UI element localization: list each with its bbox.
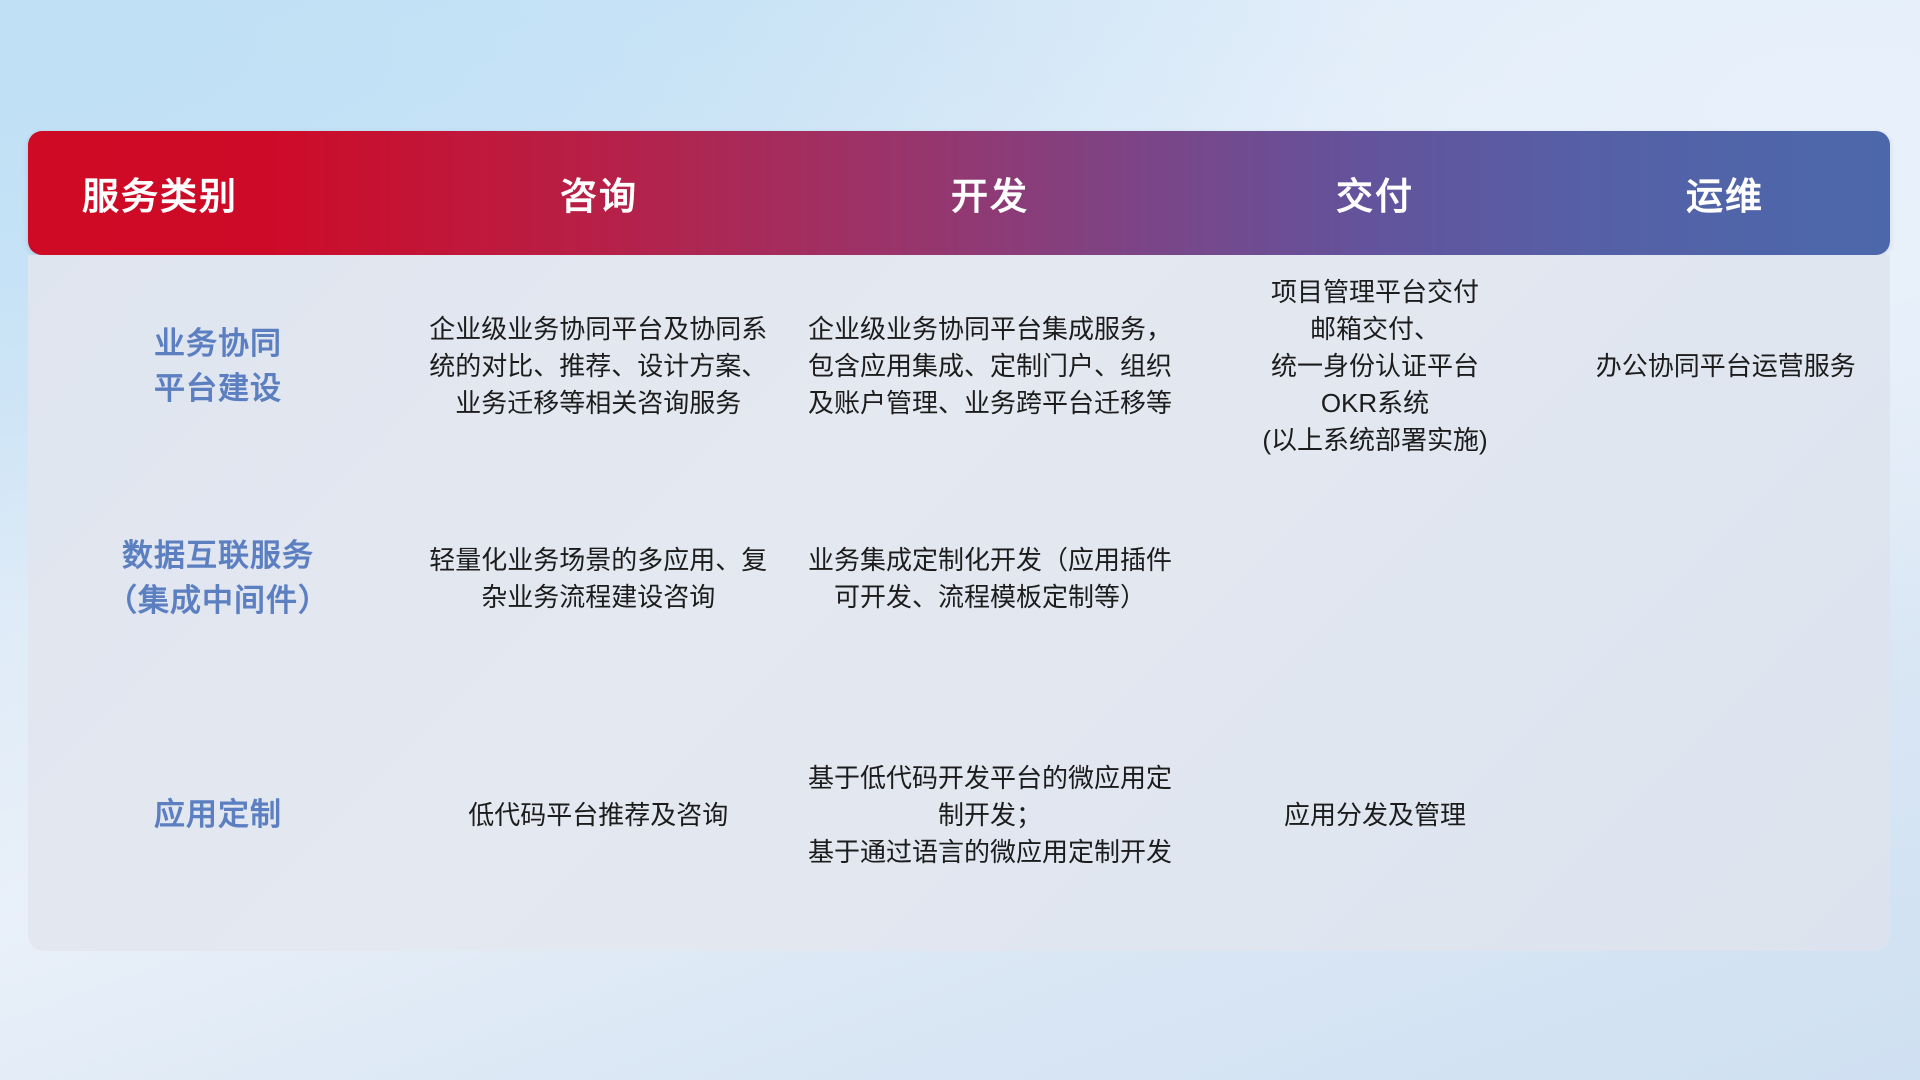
header-delivery-label: 交付: [1190, 166, 1560, 220]
cell-delivery-row2: [1190, 479, 1560, 679]
cell-text: 低代码平台推荐及咨询: [424, 797, 773, 834]
cell-development-row3: 基于低代码开发平台的微应用定制开发；基于通过语言的微应用定制开发: [790, 679, 1190, 951]
header-delivery[interactable]: 交付: [1190, 131, 1560, 255]
cell-consulting-row3: 低代码平台推荐及咨询: [408, 679, 790, 951]
header-consulting-label: 咨询: [408, 166, 790, 220]
cell-text: 项目管理平台交付邮箱交付、统一身份认证平台OKR系统(以上系统部署实施): [1208, 274, 1543, 459]
header-operations[interactable]: 运维: [1560, 131, 1890, 255]
cell-development-row1: 企业级业务协同平台集成服务，包含应用集成、定制门户、组织及账户管理、业务跨平台迁…: [790, 255, 1190, 479]
cell-text: 业务集成定制化开发（应用插件可开发、流程模板定制等）: [808, 542, 1173, 616]
table-body: 业务协同平台建设 企业级业务协同平台及协同系统的对比、推荐、设计方案、业务迁移等…: [28, 255, 1890, 951]
cell-text: 企业级业务协同平台及协同系统的对比、推荐、设计方案、业务迁移等相关咨询服务: [424, 311, 773, 422]
category-label: 业务协同平台建设: [44, 322, 392, 412]
cell-operations-row2: [1560, 479, 1890, 679]
service-matrix: 服务类别 咨询 开发 交付 运维: [28, 131, 1890, 951]
cell-text: 应用分发及管理: [1208, 797, 1543, 834]
table-row: 业务协同平台建设 企业级业务协同平台及协同系统的对比、推荐、设计方案、业务迁移等…: [28, 255, 1890, 479]
header-row: 服务类别 咨询 开发 交付 运维: [28, 131, 1890, 255]
cell-consulting-row2: 轻量化业务场景的多应用、复杂业务流程建设咨询: [408, 479, 790, 679]
table-row: 数据互联服务（集成中间件） 轻量化业务场景的多应用、复杂业务流程建设咨询 业务集…: [28, 479, 1890, 679]
header-consulting[interactable]: 咨询: [408, 131, 790, 255]
cell-text: 轻量化业务场景的多应用、复杂业务流程建设咨询: [424, 542, 773, 616]
header-service-category-label: 服务类别: [28, 166, 408, 220]
row-category-app-customization: 应用定制: [28, 679, 408, 951]
cell-operations-row3: [1560, 679, 1890, 951]
cell-text: 基于低代码开发平台的微应用定制开发；基于通过语言的微应用定制开发: [808, 760, 1173, 871]
header-development[interactable]: 开发: [790, 131, 1190, 255]
slide-canvas: 服务类别 咨询 开发 交付 运维: [0, 0, 1920, 1080]
cell-consulting-row1: 企业级业务协同平台及协同系统的对比、推荐、设计方案、业务迁移等相关咨询服务: [408, 255, 790, 479]
cell-text: 办公协同平台运营服务: [1578, 348, 1875, 385]
header-operations-label: 运维: [1560, 166, 1890, 220]
cell-development-row2: 业务集成定制化开发（应用插件可开发、流程模板定制等）: [790, 479, 1190, 679]
cell-delivery-row3: 应用分发及管理: [1190, 679, 1560, 951]
cell-operations-row1: 办公协同平台运营服务: [1560, 255, 1890, 479]
header-development-label: 开发: [790, 166, 1190, 220]
table-row: 应用定制 低代码平台推荐及咨询 基于低代码开发平台的微应用定制开发；基于通过语言…: [28, 679, 1890, 951]
row-category-data-integration: 数据互联服务（集成中间件）: [28, 479, 408, 679]
category-label: 数据互联服务（集成中间件）: [44, 534, 392, 624]
table-header: 服务类别 咨询 开发 交付 运维: [28, 131, 1890, 255]
row-category-business-collaboration: 业务协同平台建设: [28, 255, 408, 479]
category-label: 应用定制: [44, 793, 392, 838]
cell-delivery-row1: 项目管理平台交付邮箱交付、统一身份认证平台OKR系统(以上系统部署实施): [1190, 255, 1560, 479]
service-matrix-table: 服务类别 咨询 开发 交付 运维: [28, 131, 1890, 951]
header-service-category[interactable]: 服务类别: [28, 131, 408, 255]
cell-text: 企业级业务协同平台集成服务，包含应用集成、定制门户、组织及账户管理、业务跨平台迁…: [808, 311, 1173, 422]
